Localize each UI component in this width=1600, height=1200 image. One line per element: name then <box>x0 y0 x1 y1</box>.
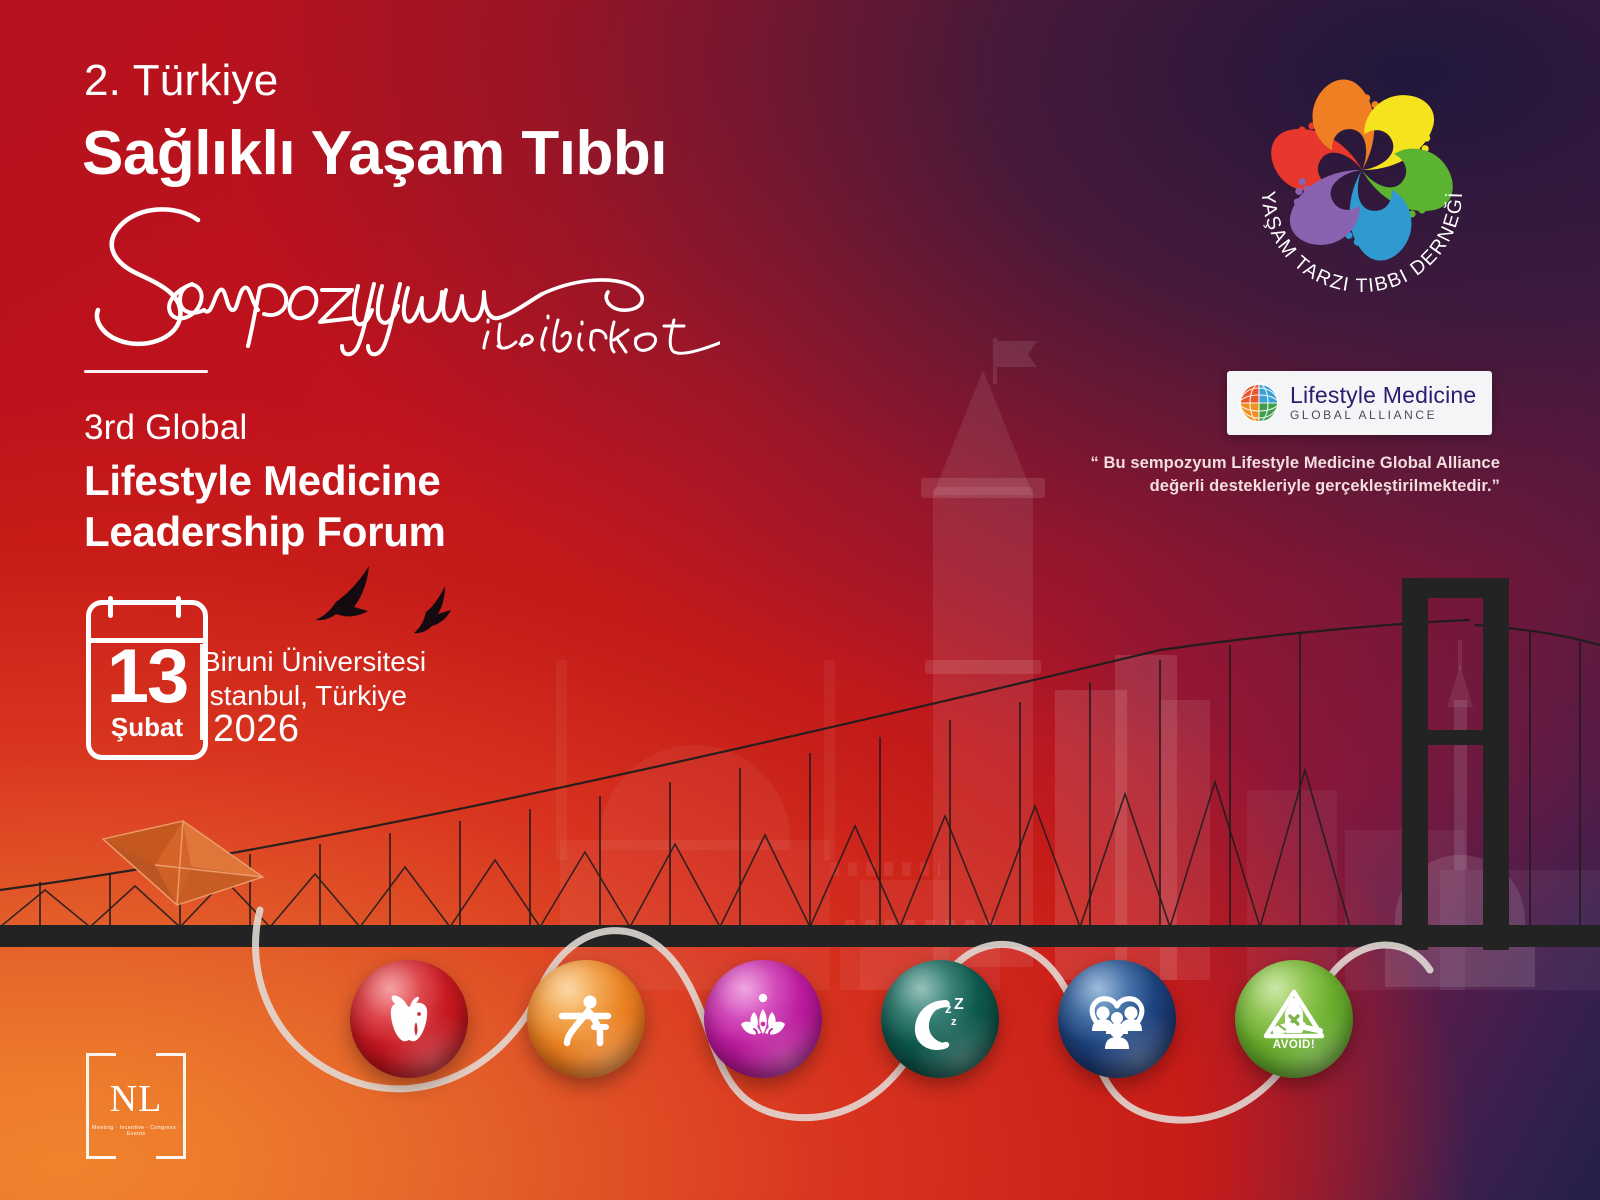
script-wordmark <box>80 198 720 363</box>
event-month: Şubat <box>86 712 208 743</box>
bird-silhouettes <box>315 566 451 633</box>
english-eyebrow: 3rd Global <box>84 408 247 448</box>
page-eyebrow: 2. Türkiye <box>84 56 278 106</box>
event-day: 13 <box>86 636 208 718</box>
support-quote: “ Bu sempozyum Lifestyle Medicine Global… <box>1080 452 1500 498</box>
page-title: Sağlıklı Yaşam Tıbbı <box>82 118 667 189</box>
support-quote-line1: “ Bu sempozyum Lifestyle Medicine Global… <box>1080 452 1500 475</box>
partner-title: Lifestyle Medicine <box>1290 383 1476 408</box>
venue: Biruni Üniversitesi İstanbul, Türkiye <box>202 645 426 713</box>
agency-logo[interactable]: NL Meeting · Incentive · Congress · Even… <box>86 1053 186 1159</box>
event-poster: 2. Türkiye Sağlıklı Yaşam Tıbbı <box>0 0 1600 1200</box>
yasam-tarzi-tibbi-dernegi-logo: YAŞAM TARZI TIBBI DERNEĞİ <box>1228 52 1496 320</box>
pillar-stress-management[interactable] <box>704 960 822 1078</box>
title-divider <box>84 370 208 373</box>
venue-line1: Biruni Üniversitesi <box>202 645 426 679</box>
english-title-line2: Leadership Forum <box>84 506 446 557</box>
pillar-avoid-substances[interactable]: AVOID! <box>1235 960 1353 1078</box>
pinwheel-petals <box>1271 67 1453 274</box>
pillar-restorative-sleep[interactable]: z Z z <box>881 960 999 1078</box>
lifestyle-medicine-global-alliance-badge[interactable]: Lifestyle Medicine GLOBAL ALLIANCE <box>1227 371 1492 435</box>
lifestyle-medicine-pillars: z Z z <box>0 960 1600 1100</box>
support-quote-line2: değerli destekleriyle gerçekleştirilmekt… <box>1080 475 1500 498</box>
pillar-physical-activity[interactable] <box>527 960 645 1078</box>
english-title: Lifestyle Medicine Leadership Forum <box>84 455 446 557</box>
agency-monogram: NL <box>86 1077 186 1121</box>
agency-tagline: Meeting · Incentive · Congress · Events <box>86 1125 186 1137</box>
event-year: 2026 <box>213 708 300 751</box>
globe-icon <box>1237 381 1281 425</box>
pillar-nutrition[interactable] <box>350 960 468 1078</box>
english-title-line1: Lifestyle Medicine <box>84 455 446 506</box>
pillar-social-connection[interactable] <box>1058 960 1176 1078</box>
partner-subtitle: GLOBAL ALLIANCE <box>1290 408 1476 423</box>
